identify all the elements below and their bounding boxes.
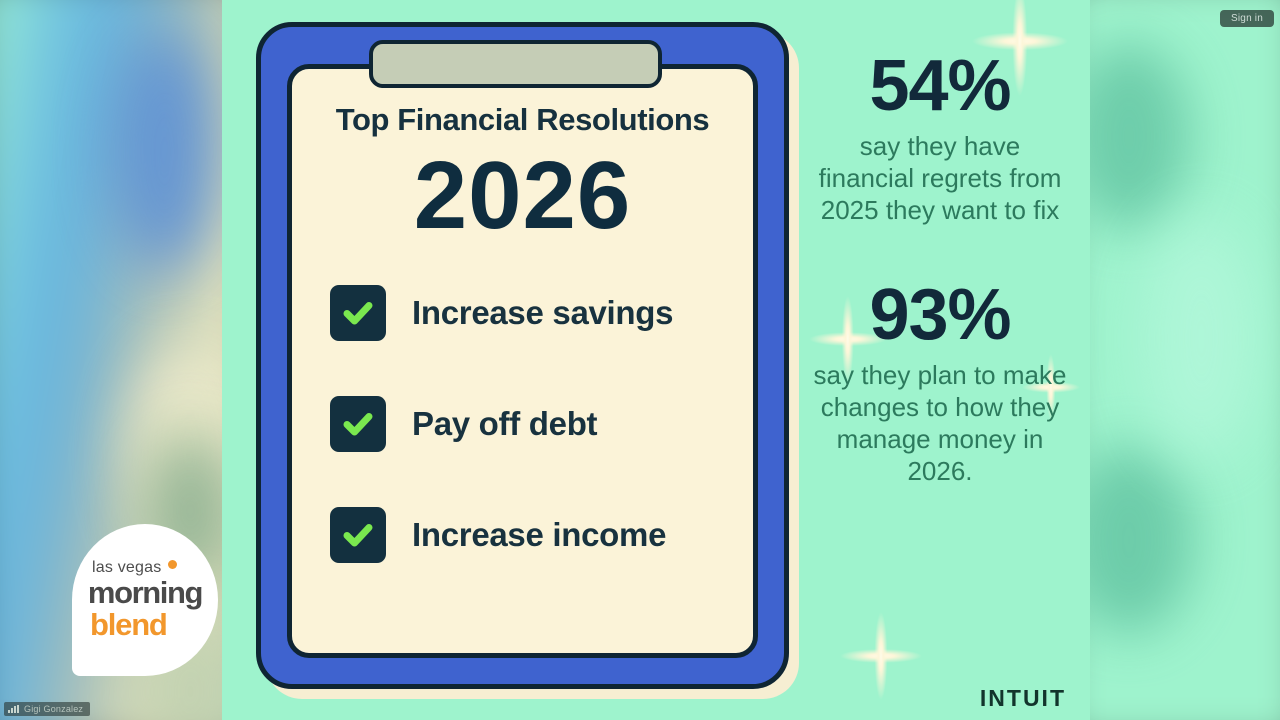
check-icon (330, 507, 386, 563)
check-icon (330, 396, 386, 452)
statistic-block: 54% say they have financial regrets from… (812, 50, 1068, 227)
list-year: 2026 (318, 147, 727, 245)
checklist-item-label: Increase income (412, 516, 666, 554)
clipboard-clip (369, 40, 662, 88)
station-logo-line2: morning (88, 577, 202, 608)
sparkle-icon (840, 612, 922, 700)
backdrop-blob (111, 29, 218, 274)
station-logo-line3: blend (90, 609, 167, 640)
resolutions-checklist: Increase savings Pay off debt (318, 285, 727, 563)
statistics-column: 54% say they have financial regrets from… (812, 50, 1068, 540)
checklist-item-label: Increase savings (412, 294, 673, 332)
check-icon (330, 285, 386, 341)
statistic-block: 93% say they plan to make changes to how… (812, 279, 1068, 488)
backdrop-blob (1143, 216, 1261, 461)
checklist-item[interactable]: Increase savings (330, 285, 727, 341)
statistic-caption: say they plan to make changes to how the… (812, 359, 1068, 488)
caption-bar: Gigi Gonzalez (4, 702, 90, 716)
checklist-item-label: Pay off debt (412, 405, 597, 443)
sign-in-button[interactable]: Sign in (1220, 10, 1274, 27)
station-logo: las vegas morning blend (72, 524, 218, 676)
statistic-number: 54% (812, 50, 1068, 122)
list-title: Top Financial Resolutions (318, 103, 727, 137)
video-player-stage: Top Financial Resolutions 2026 Increase … (0, 0, 1280, 720)
caption-name: Gigi Gonzalez (24, 704, 83, 714)
intuit-brand-wordmark: INTUIT (980, 685, 1066, 712)
statistic-caption: say they have financial regrets from 202… (812, 130, 1068, 227)
signal-bars-icon (8, 705, 19, 713)
clipboard-paper: Top Financial Resolutions 2026 Increase … (287, 64, 758, 658)
checklist-item[interactable]: Increase income (330, 507, 727, 563)
statistic-number: 93% (812, 279, 1068, 351)
clipboard-graphic: Top Financial Resolutions 2026 Increase … (256, 22, 789, 689)
station-logo-line1: las vegas (92, 560, 161, 576)
infographic-panel: Top Financial Resolutions 2026 Increase … (222, 0, 1090, 720)
blurred-video-backdrop-right (1084, 0, 1280, 720)
checklist-item[interactable]: Pay off debt (330, 396, 727, 452)
logo-dot-icon (168, 560, 177, 569)
